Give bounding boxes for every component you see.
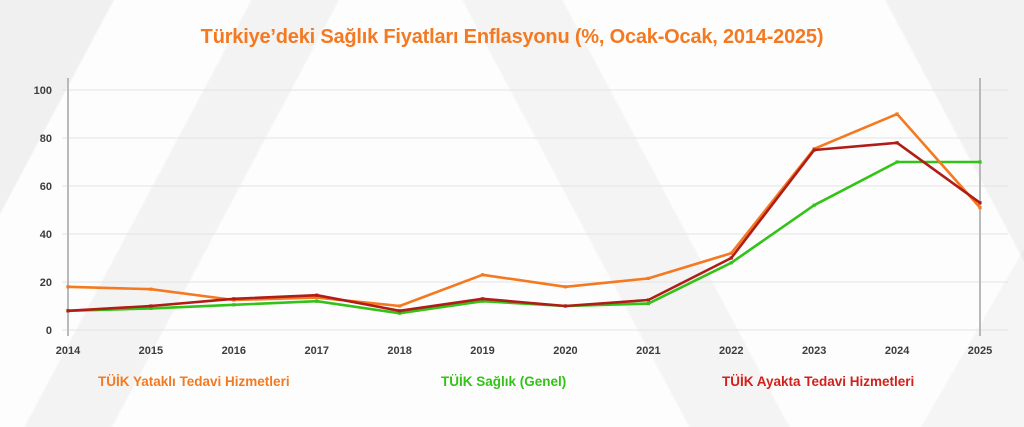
data-point[interactable]	[978, 206, 981, 209]
x-axis-tick-label: 2025	[968, 345, 992, 357]
y-axis-tick-label: 20	[40, 277, 52, 289]
y-axis-ticks: 020406080100	[34, 85, 52, 337]
series-line-2[interactable]	[68, 143, 980, 311]
legend-item-genel[interactable]: TÜİK Sağlık (Genel)	[441, 374, 566, 394]
data-point[interactable]	[232, 303, 235, 306]
x-axis-tick-label: 2019	[470, 345, 494, 357]
data-point[interactable]	[730, 256, 733, 259]
line-chart-plot: 020406080100 201420152016201720182019202…	[0, 60, 1024, 360]
legend-item-ayakta[interactable]: TÜİK Ayakta Tedavi Hizmetleri	[722, 374, 914, 394]
y-axis-tick-label: 0	[46, 325, 52, 337]
series-line-0[interactable]	[68, 114, 980, 306]
x-axis-tick-label: 2020	[553, 345, 577, 357]
data-point[interactable]	[895, 112, 898, 115]
data-point[interactable]	[315, 294, 318, 297]
y-axis-tick-label: 100	[34, 85, 52, 97]
data-point[interactable]	[813, 204, 816, 207]
x-axis-tick-label: 2017	[304, 345, 328, 357]
y-axis-tick-label: 60	[40, 181, 52, 193]
legend-item-yatakli[interactable]: TÜİK Yataklı Tedavi Hizmetleri	[98, 374, 290, 394]
data-point[interactable]	[481, 297, 484, 300]
data-point[interactable]	[66, 309, 69, 312]
series-line-1[interactable]	[68, 162, 980, 313]
data-point[interactable]	[647, 302, 650, 305]
data-point[interactable]	[730, 261, 733, 264]
y-axis-tick-label: 80	[40, 133, 52, 145]
x-axis-tick-label: 2021	[636, 345, 660, 357]
data-point[interactable]	[398, 304, 401, 307]
legend-label: TÜİK Yataklı Tedavi Hizmetleri	[98, 374, 290, 389]
data-point[interactable]	[398, 309, 401, 312]
data-point[interactable]	[564, 304, 567, 307]
x-axis-tick-label: 2016	[222, 345, 246, 357]
data-point[interactable]	[895, 141, 898, 144]
data-point[interactable]	[647, 298, 650, 301]
data-point[interactable]	[149, 304, 152, 307]
x-axis-tick-label: 2014	[56, 345, 81, 357]
data-point[interactable]	[315, 300, 318, 303]
x-axis-tick-label: 2024	[885, 345, 910, 357]
data-point[interactable]	[978, 201, 981, 204]
x-axis-ticks: 2014201520162017201820192020202120222023…	[56, 345, 992, 357]
legend-label: TÜİK Sağlık (Genel)	[441, 374, 566, 389]
data-point[interactable]	[232, 297, 235, 300]
legend-label: TÜİK Ayakta Tedavi Hizmetleri	[722, 374, 914, 389]
data-point[interactable]	[647, 277, 650, 280]
data-point[interactable]	[66, 285, 69, 288]
data-point[interactable]	[564, 285, 567, 288]
x-axis-tick-label: 2015	[139, 345, 163, 357]
chart-title: Türkiye’deki Sağlık Fiyatları Enflasyonu…	[0, 26, 1024, 49]
x-axis-tick-label: 2022	[719, 345, 743, 357]
data-point[interactable]	[481, 273, 484, 276]
series-layer	[66, 112, 981, 314]
data-point[interactable]	[730, 252, 733, 255]
x-axis-tick-label: 2018	[387, 345, 411, 357]
data-point[interactable]	[813, 148, 816, 151]
data-point[interactable]	[978, 160, 981, 163]
y-axis-tick-label: 40	[40, 229, 52, 241]
chart-canvas: Türkiye’deki Sağlık Fiyatları Enflasyonu…	[0, 0, 1024, 427]
x-axis-tick-label: 2023	[802, 345, 826, 357]
data-point[interactable]	[895, 160, 898, 163]
data-point[interactable]	[149, 288, 152, 291]
